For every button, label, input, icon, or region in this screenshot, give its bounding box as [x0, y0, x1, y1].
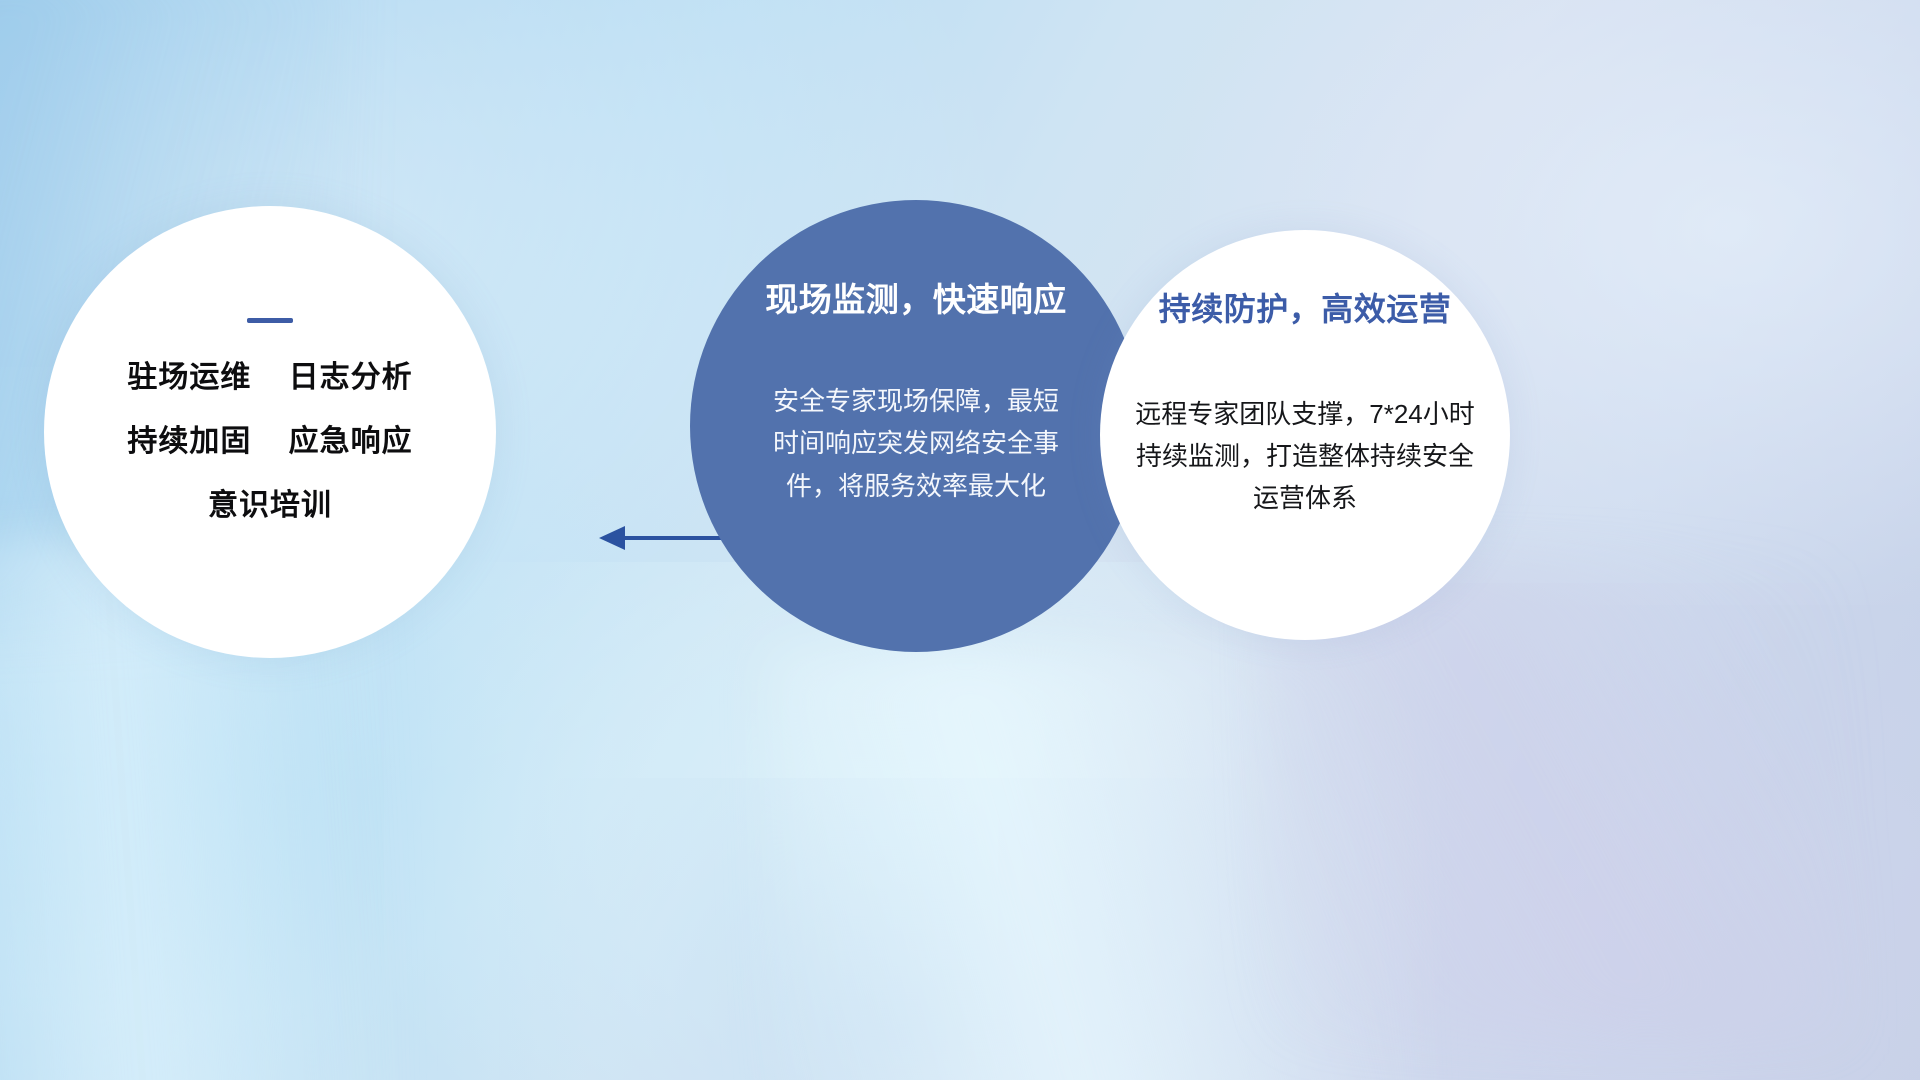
onsite-body-text: 安全专家现场保障，最短时间响应突发网络安全事件，将服务效率最大化: [766, 380, 1066, 506]
protection-body-text: 远程专家团队支撑，7*24小时持续监测，打造整体持续安全运营体系: [1127, 393, 1483, 519]
capability-line-1: 驻场运维 日志分析: [127, 363, 412, 393]
capability-line-3: 意识培训: [208, 491, 332, 521]
node-capabilities-circle[interactable]: 驻场运维 日志分析 持续加固 应急响应 意识培训: [44, 206, 496, 658]
onsite-heading: 现场监测，快速响应: [765, 282, 1067, 318]
diagram-canvas: 驻场运维 日志分析 持续加固 应急响应 意识培训 现场监测，快速响应 安全专家现…: [0, 0, 1920, 1080]
arrow-head-icon: [599, 526, 625, 550]
capability-line-2: 持续加固 应急响应: [127, 427, 412, 457]
node-continuous-protection-circle[interactable]: 持续防护，高效运营 远程专家团队支撑，7*24小时持续监测，打造整体持续安全运营…: [1100, 230, 1510, 640]
protection-heading: 持续防护，高效运营: [1159, 292, 1452, 327]
node-onsite-monitoring-circle[interactable]: 现场监测，快速响应 安全专家现场保障，最短时间响应突发网络安全事件，将服务效率最…: [690, 200, 1142, 652]
divider-rule: [247, 318, 293, 323]
